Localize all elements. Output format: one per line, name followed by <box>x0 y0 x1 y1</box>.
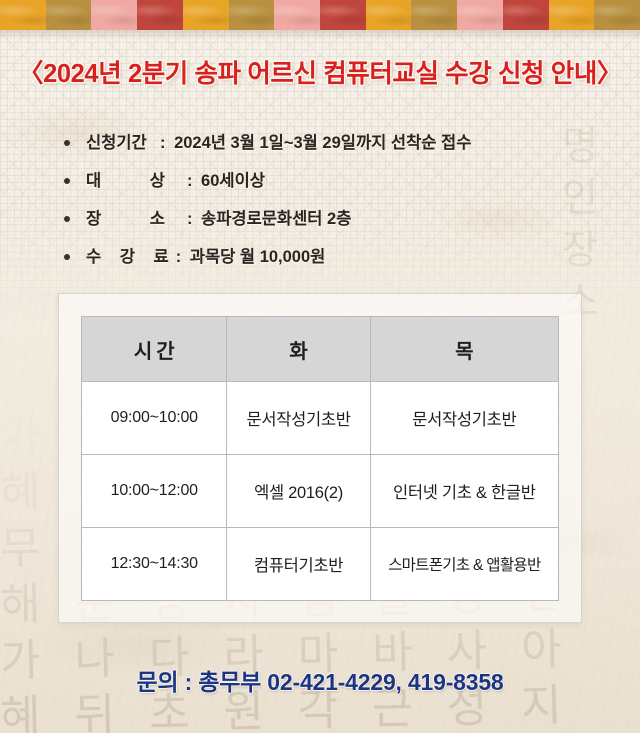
swatch-crimson <box>503 0 549 30</box>
cell-tuesday-course: 컴퓨터기초반 <box>227 528 370 601</box>
swatch-pink <box>274 0 320 30</box>
column-header-thursday: 목 <box>370 317 558 382</box>
schedule-table-head: 시간 화 목 <box>82 317 559 382</box>
swatch-gold <box>366 0 412 30</box>
info-item-label: 대 상 <box>86 162 187 200</box>
table-row: 10:00~12:00엑셀 2016(2)인터넷 기초 & 한글반 <box>82 455 559 528</box>
swatch-khaki <box>411 0 457 30</box>
cell-time: 09:00~10:00 <box>82 382 227 455</box>
schedule-table: 시간 화 목 09:00~10:00문서작성기초반문서작성기초반10:00~12… <box>81 316 559 601</box>
banner-drop-shadow <box>0 30 640 40</box>
column-header-time: 시간 <box>82 317 227 382</box>
page-title: 〈2024년 2분기 송파 어르신 컴퓨터교실 수강 신청 안내〉 <box>0 53 640 90</box>
swatch-crimson <box>137 0 183 30</box>
table-row: 09:00~10:00문서작성기초반문서작성기초반 <box>82 382 559 455</box>
info-item-value: 2024년 3월 1일~3월 29일까지 선착순 접수 <box>170 134 472 152</box>
info-item-label: 수 강 료 <box>86 238 176 276</box>
info-item-value: 60세이상 <box>196 172 264 190</box>
info-item-separator: : <box>187 210 193 228</box>
cell-tuesday-course: 엑셀 2016(2) <box>227 455 370 528</box>
swatch-gold <box>183 0 229 30</box>
info-item-label: 장 소 <box>86 200 187 238</box>
swatch-khaki <box>229 0 275 30</box>
schedule-table-body: 09:00~10:00문서작성기초반문서작성기초반10:00~12:00엑셀 2… <box>82 382 559 601</box>
swatch-khaki <box>46 0 92 30</box>
cell-tuesday-course: 문서작성기초반 <box>227 382 370 455</box>
cell-thursday-course: 스마트폰기초 & 앱활용반 <box>370 528 558 601</box>
cell-time: 10:00~12:00 <box>82 455 227 528</box>
info-list-item: 장 소: 송파경로문화센터 2층 <box>62 200 582 238</box>
swatch-khaki <box>594 0 640 30</box>
info-item-label: 신청기간 <box>86 124 160 162</box>
swatch-gold <box>0 0 46 30</box>
info-list-item: 신청기간: 2024년 3월 1일~3월 29일까지 선착순 접수 <box>62 124 582 162</box>
table-header-row: 시간 화 목 <box>82 317 559 382</box>
column-header-tuesday: 화 <box>227 317 370 382</box>
cell-time: 12:30~14:30 <box>82 528 227 601</box>
info-list: 신청기간: 2024년 3월 1일~3월 29일까지 선착순 접수대 상: 60… <box>62 124 582 276</box>
info-list-item: 대 상: 60세이상 <box>62 162 582 200</box>
info-item-value: 과목당 월 10,000원 <box>185 248 325 266</box>
contact-footer: 문의 : 총무부 02-421-4229, 419-8358 <box>0 663 640 697</box>
swatch-crimson <box>320 0 366 30</box>
swatch-pink <box>457 0 503 30</box>
info-item-separator: : <box>187 172 193 190</box>
schedule-table-frame: 시간 화 목 09:00~10:00문서작성기초반문서작성기초반10:00~12… <box>58 293 582 623</box>
swatch-gold <box>549 0 595 30</box>
info-item-separator: : <box>160 134 166 152</box>
top-color-banner <box>0 0 640 30</box>
swatch-pink <box>91 0 137 30</box>
cell-thursday-course: 인터넷 기초 & 한글반 <box>370 455 558 528</box>
info-item-value: 송파경로문화센터 2층 <box>196 210 351 228</box>
table-row: 12:30~14:30컴퓨터기초반스마트폰기초 & 앱활용반 <box>82 528 559 601</box>
info-list-item: 수 강 료: 과목당 월 10,000원 <box>62 238 582 276</box>
cell-thursday-course: 문서작성기초반 <box>370 382 558 455</box>
poster-canvas: 가 나 다 라 마 바 사 아 혜 뒤 초 원 각 근 성 지 무 흥 하 심 … <box>0 0 640 733</box>
info-item-separator: : <box>176 248 182 266</box>
